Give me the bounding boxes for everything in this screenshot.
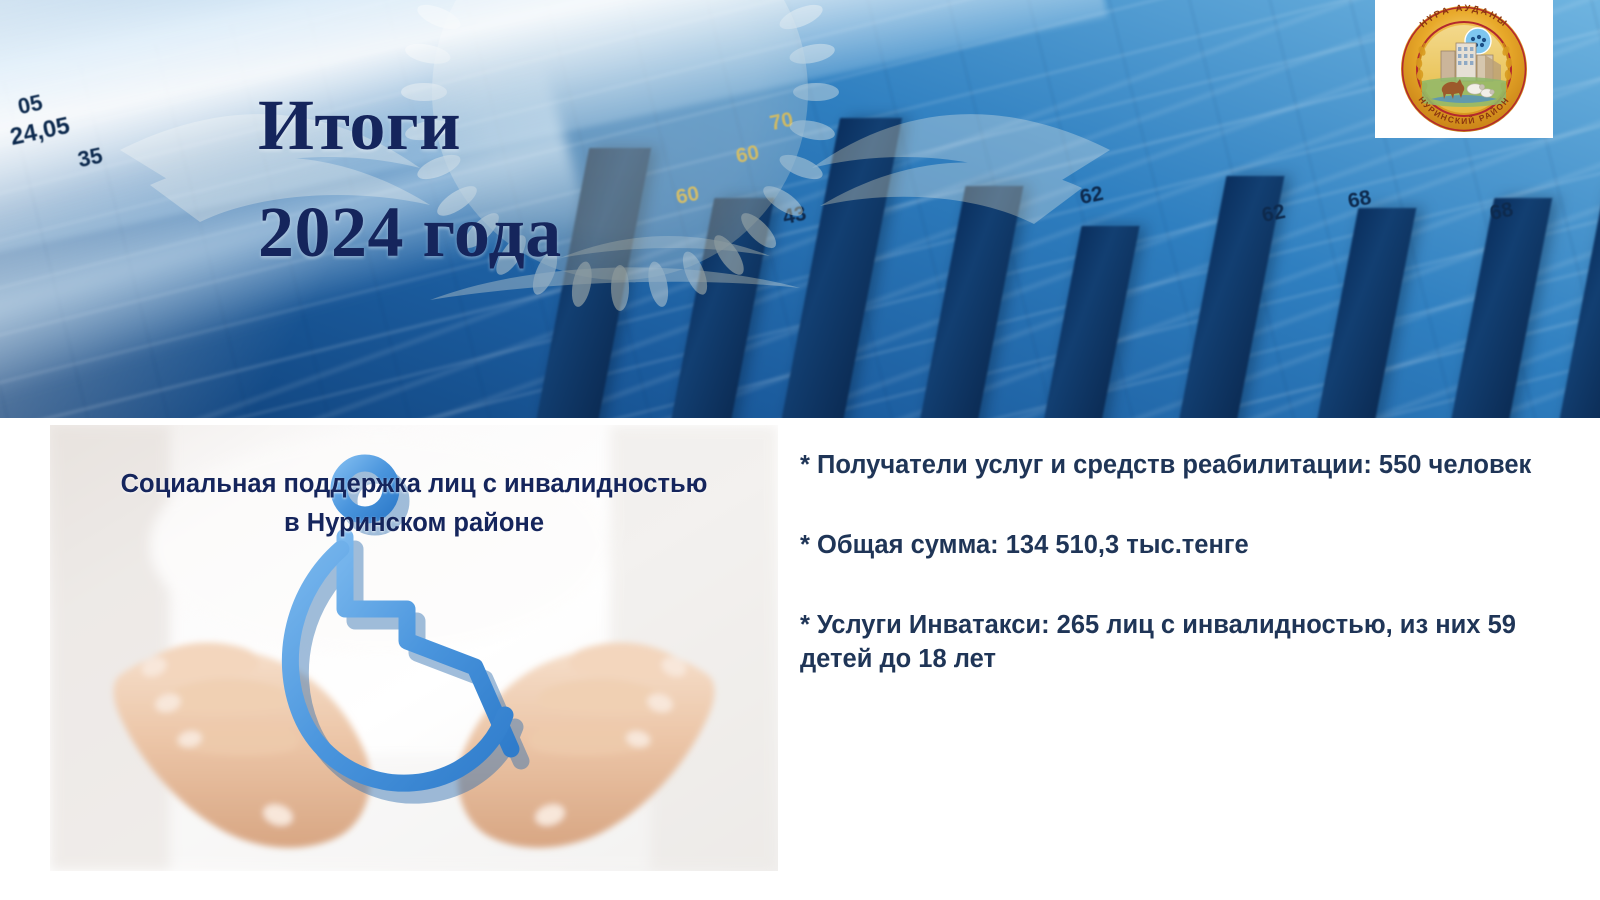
- hero-bar: [1446, 198, 1553, 418]
- slide-root: 05 24,05 35 70 60 60 43 62 62 68 68: [0, 0, 1600, 900]
- photo-caption: Социальная поддержка лиц с инвалидностью…: [50, 465, 778, 543]
- fact-item-invataxi: * Услуги Инватакси: 265 лиц с инвалиднос…: [800, 608, 1560, 676]
- hero-tick-label: 43: [781, 202, 809, 230]
- district-emblem-icon: НҰРА АУДАНЫ НУРИНСКИЙ РАЙОН: [1389, 3, 1539, 135]
- page-title-line-2: 2024 года: [258, 179, 562, 286]
- hero-tick-label: 70: [768, 108, 796, 136]
- hero-banner: 05 24,05 35 70 60 60 43 62 62 68 68: [0, 0, 1600, 418]
- hero-tick-label: 05: [16, 90, 45, 121]
- fact-item-total-amount: * Общая сумма: 134 510,3 тыс.тенге: [800, 528, 1560, 562]
- hero-bar: [1312, 208, 1417, 418]
- hero-bar: [1038, 226, 1139, 418]
- fact-item-recipients: * Получатели услуг и средств реабилитаци…: [800, 448, 1560, 482]
- page-title-line-1: Итоги: [258, 85, 461, 165]
- hero-bar: [915, 186, 1024, 418]
- photo-caption-line-1: Социальная поддержка лиц с инвалидностью: [72, 465, 756, 504]
- statistics-list: * Получатели услуг и средств реабилитаци…: [800, 448, 1560, 677]
- page-title: Итоги 2024 года: [258, 72, 562, 285]
- hero-bar: [776, 118, 902, 418]
- hero-bar: [1554, 180, 1600, 418]
- hero-bar: [666, 198, 775, 418]
- hero-tick-label: 68: [1346, 186, 1374, 214]
- hero-tick-label: 60: [674, 182, 702, 210]
- hero-tick-label: 60: [734, 141, 762, 169]
- hero-tick-label: 62: [1078, 182, 1106, 210]
- district-emblem[interactable]: НҰРА АУДАНЫ НУРИНСКИЙ РАЙОН: [1375, 0, 1553, 138]
- support-photo-card: Социальная поддержка лиц с инвалидностью…: [50, 425, 778, 871]
- hero-tick-label: 35: [76, 143, 105, 174]
- hero-tick-label: 62: [1260, 200, 1288, 228]
- photo-caption-line-2: в Нуринском районе: [72, 504, 756, 543]
- hero-tick-label: 68: [1488, 198, 1516, 226]
